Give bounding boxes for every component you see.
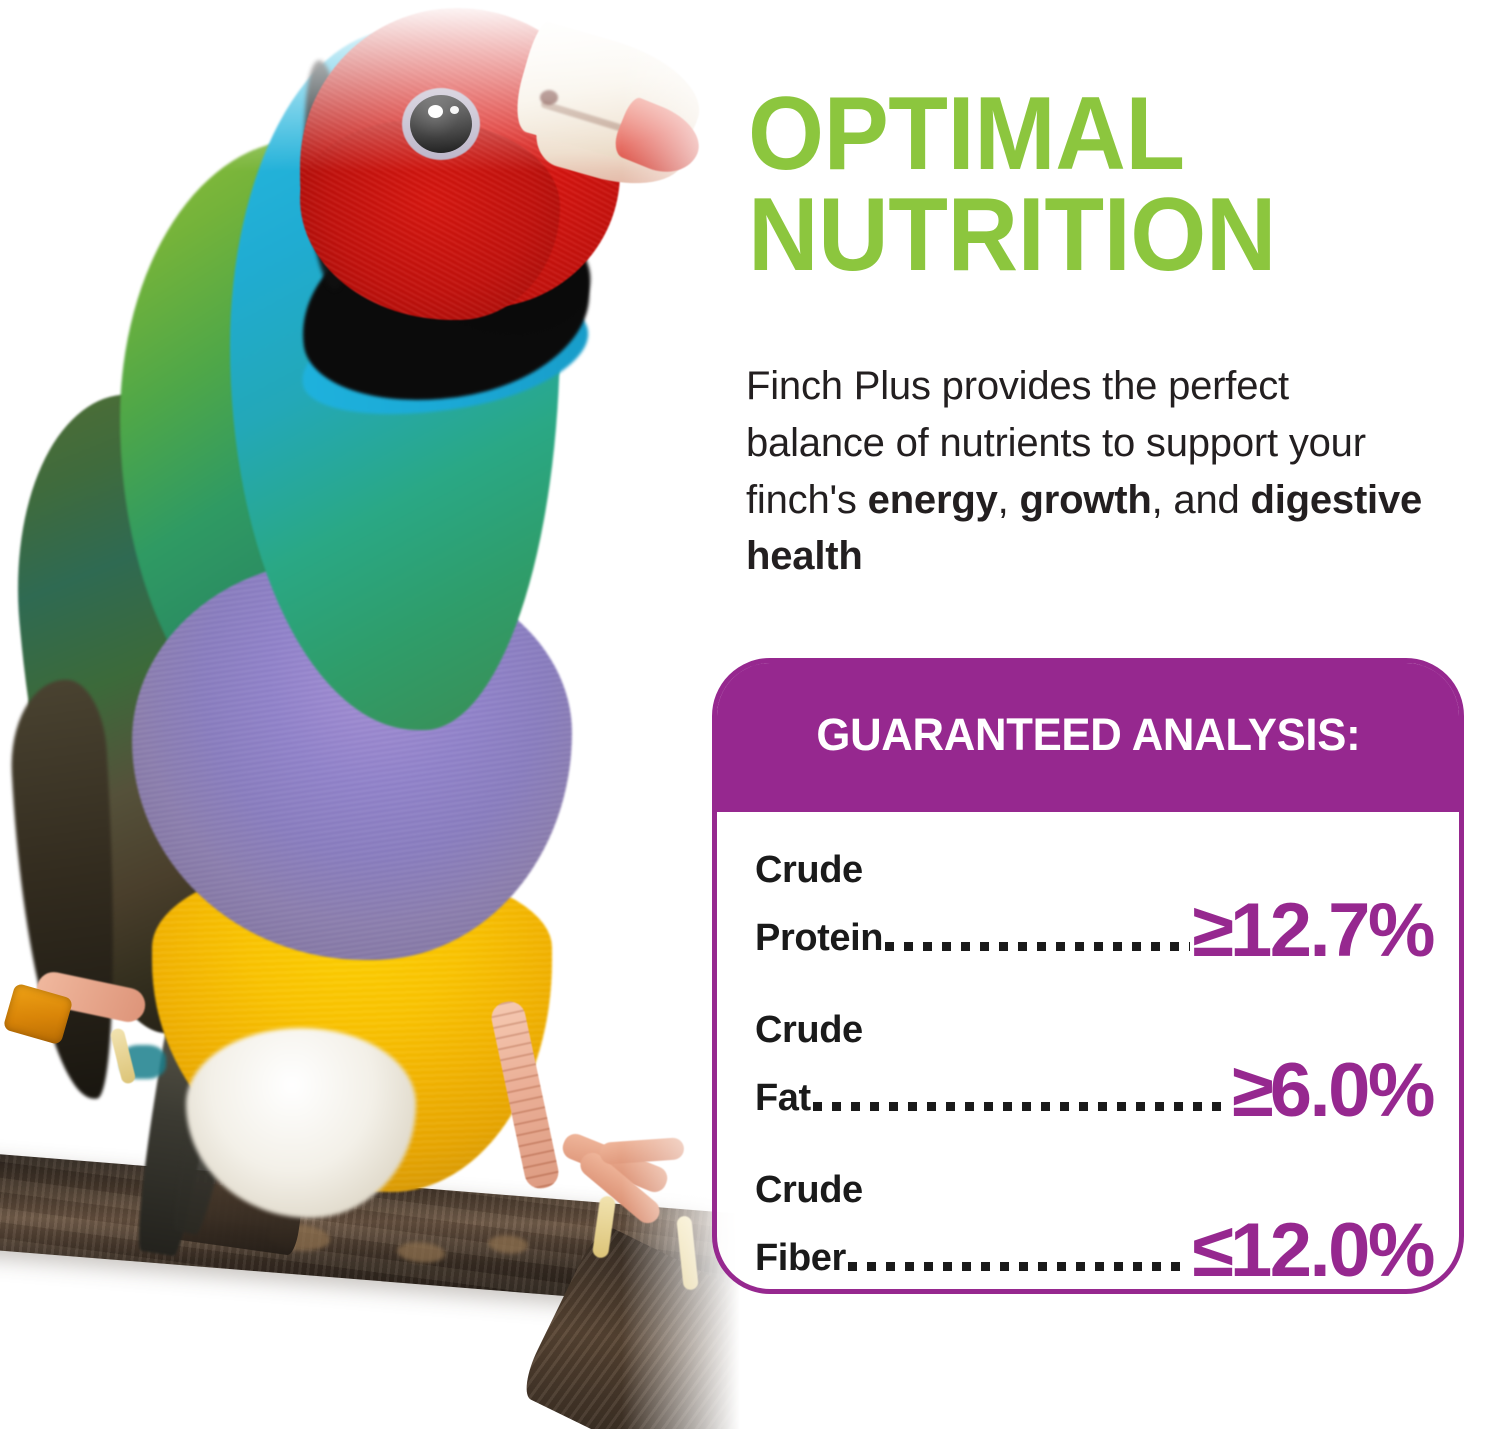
- guaranteed-analysis-card: GUARANTEED ANALYSIS: Crude Protein ≥12.7…: [712, 658, 1464, 1294]
- body-copy-sep1: ,: [998, 478, 1020, 522]
- guaranteed-analysis-body: Crude Protein ≥12.7% Crude Fat ≥6.0%: [717, 813, 1459, 1289]
- content-column: OPTIMAL NUTRITION Finch Plus provides th…: [740, 0, 1500, 1429]
- analysis-row-fiber: Crude Fiber ≤12.0%: [755, 1169, 1433, 1294]
- guaranteed-analysis-header: GUARANTEED ANALYSIS:: [716, 662, 1460, 812]
- value-number: 12.0%: [1230, 1208, 1433, 1293]
- analysis-value-protein: ≥12.7%: [1192, 899, 1433, 963]
- guaranteed-analysis-title: GUARANTEED ANALYSIS:: [816, 709, 1360, 761]
- value-number: 12.7%: [1230, 888, 1433, 973]
- analysis-row-protein: Crude Protein ≥12.7%: [755, 849, 1433, 977]
- dotted-leader: [848, 1233, 1190, 1271]
- analysis-label-bottom: Fat: [755, 1077, 811, 1120]
- operator-symbol: ≤: [1192, 1208, 1230, 1293]
- toe: [599, 1137, 684, 1165]
- eye-highlight: [428, 105, 443, 118]
- analysis-row-lower: Protein ≥12.7%: [755, 893, 1433, 960]
- body-copy: Finch Plus provides the perfect balance …: [746, 358, 1434, 585]
- eye-highlight-secondary: [450, 106, 459, 114]
- analysis-label-bottom: Protein: [755, 917, 883, 960]
- finch-photo: [0, 0, 740, 1429]
- analysis-row-lower: Fat ≥6.0%: [755, 1053, 1433, 1120]
- nostril: [540, 90, 558, 105]
- body-copy-sep2: , and: [1152, 478, 1251, 522]
- operator-symbol: ≥: [1232, 1048, 1270, 1133]
- analysis-label-top: Crude: [755, 849, 863, 892]
- value-number: 6.0%: [1270, 1048, 1433, 1133]
- body-copy-emphasis-energy: energy: [868, 478, 998, 522]
- analysis-label-bottom: Fiber: [755, 1237, 846, 1280]
- analysis-label-top: Crude: [755, 1009, 863, 1052]
- analysis-value-fat: ≥6.0%: [1232, 1059, 1433, 1123]
- analysis-row-lower: Fiber ≤12.0%: [755, 1213, 1433, 1280]
- analysis-label-top: Crude: [755, 1169, 863, 1212]
- dotted-leader: [813, 1073, 1230, 1111]
- page-title: OPTIMAL NUTRITION: [748, 84, 1406, 286]
- operator-symbol: ≥: [1192, 888, 1230, 973]
- product-feature-graphic: OPTIMAL NUTRITION Finch Plus provides th…: [0, 0, 1500, 1429]
- analysis-row-fat: Crude Fat ≥6.0%: [755, 1009, 1433, 1137]
- eye: [410, 95, 472, 153]
- dotted-leader: [885, 913, 1190, 951]
- analysis-value-fiber: ≤12.0%: [1192, 1219, 1433, 1283]
- bird-illustration: [0, 0, 740, 1429]
- body-copy-emphasis-growth: growth: [1019, 478, 1151, 522]
